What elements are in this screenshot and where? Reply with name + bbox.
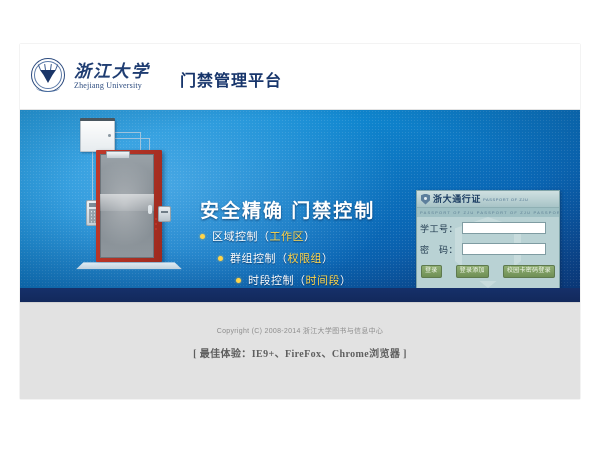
userid-label: 学工号： bbox=[417, 222, 462, 235]
door-closer bbox=[106, 151, 130, 159]
cable-box-to-keypad bbox=[92, 150, 93, 202]
brand-block: 浙江大学 Zhejiang University bbox=[31, 58, 150, 94]
login-panel-titlebar: 浙大通行证 PASSPORT OF ZJU bbox=[417, 191, 559, 208]
site-footer: Copyright (C) 2008-2014 浙江大学图书与信息中心 [ 最佳… bbox=[20, 302, 580, 399]
userid-input[interactable] bbox=[462, 222, 546, 234]
feature-list: 区域控制（工作区） 群组控制（权限组） 时段控制（时间段） bbox=[200, 228, 352, 288]
bullet-dot-icon bbox=[236, 278, 241, 283]
cable-box-to-door-top bbox=[113, 132, 141, 133]
field-row-password: 密 码： bbox=[417, 240, 559, 258]
bullet-dot-icon bbox=[200, 234, 205, 239]
campus-card-login-button[interactable]: 校园卡密码登录 bbox=[503, 265, 555, 278]
banner-base-band bbox=[20, 288, 580, 302]
floor-plate bbox=[76, 262, 182, 269]
bullet-dot-icon bbox=[218, 256, 223, 261]
feature-label: 群组控制（权限组） bbox=[230, 250, 334, 266]
zju-crest-icon bbox=[31, 58, 67, 94]
door-handle bbox=[148, 205, 152, 214]
field-row-userid: 学工号： bbox=[417, 219, 559, 237]
controller-lid bbox=[80, 118, 115, 121]
security-door bbox=[96, 150, 162, 262]
banner-slogan: 安全精确 门禁控制 bbox=[200, 196, 375, 223]
crest-arc bbox=[36, 83, 60, 92]
hero-banner: 安全精确 门禁控制 区域控制（工作区） 群组控制（权限组） 时段控制（时间段） bbox=[20, 110, 580, 288]
login-panel-title: 浙大通行证 bbox=[433, 195, 481, 204]
login-button-row: 登录 登录添加 校园卡密码登录 bbox=[417, 265, 559, 278]
password-input[interactable] bbox=[462, 243, 546, 255]
university-name-cn: 浙江大学 bbox=[74, 62, 150, 81]
cable-box-to-reader bbox=[113, 138, 150, 139]
feature-item-group-control: 群组控制（权限组） bbox=[218, 250, 352, 266]
university-name: 浙江大学 Zhejiang University bbox=[74, 58, 150, 94]
login-panel-subtitle: PASSPORT OF ZJU bbox=[483, 197, 528, 202]
password-label: 密 码： bbox=[417, 243, 462, 256]
page-title: 门禁管理平台 bbox=[180, 67, 282, 91]
site-header: 浙江大学 Zhejiang University 门禁管理平台 bbox=[20, 44, 580, 110]
content-sheet: 浙江大学 Zhejiang University 门禁管理平台 bbox=[20, 44, 580, 399]
copyright-text: Copyright (C) 2008-2014 浙江大学图书与信息中心 bbox=[20, 326, 580, 336]
shield-icon bbox=[421, 194, 430, 205]
login-button[interactable]: 登录 bbox=[421, 265, 442, 278]
feature-item-time-control: 时段控制（时间段） bbox=[236, 272, 352, 288]
controller-knob bbox=[108, 134, 111, 137]
feature-item-area-control: 区域控制（工作区） bbox=[200, 228, 352, 244]
university-name-en: Zhejiang University bbox=[74, 81, 150, 91]
login-add-button[interactable]: 登录添加 bbox=[456, 265, 489, 278]
page-root: 浙江大学 Zhejiang University 门禁管理平台 bbox=[0, 0, 600, 450]
feature-label: 区域控制（工作区） bbox=[212, 228, 316, 244]
door-glass-band bbox=[100, 194, 154, 211]
crest-strokes bbox=[38, 64, 58, 70]
login-panel: 浙大通行证 PASSPORT OF ZJU PASSPORT OF ZJU PA… bbox=[416, 190, 560, 288]
access-controller-box bbox=[80, 120, 115, 152]
watermark-text: PASSPORT OF ZJU PASSPORT OF ZJU PASSPORT… bbox=[417, 210, 559, 215]
feature-label: 时段控制（时间段） bbox=[248, 272, 352, 288]
login-form: 学工号： 密 码： bbox=[417, 219, 559, 261]
login-watermark-strip: PASSPORT OF ZJU PASSPORT OF ZJU PASSPORT… bbox=[417, 208, 559, 217]
card-slot bbox=[161, 211, 168, 213]
access-control-illustration bbox=[46, 114, 176, 286]
browser-recommendation-text: [ 最佳体验：IE9+、FireFox、Chrome浏览器 ] bbox=[20, 345, 580, 360]
card-reader bbox=[158, 206, 171, 222]
